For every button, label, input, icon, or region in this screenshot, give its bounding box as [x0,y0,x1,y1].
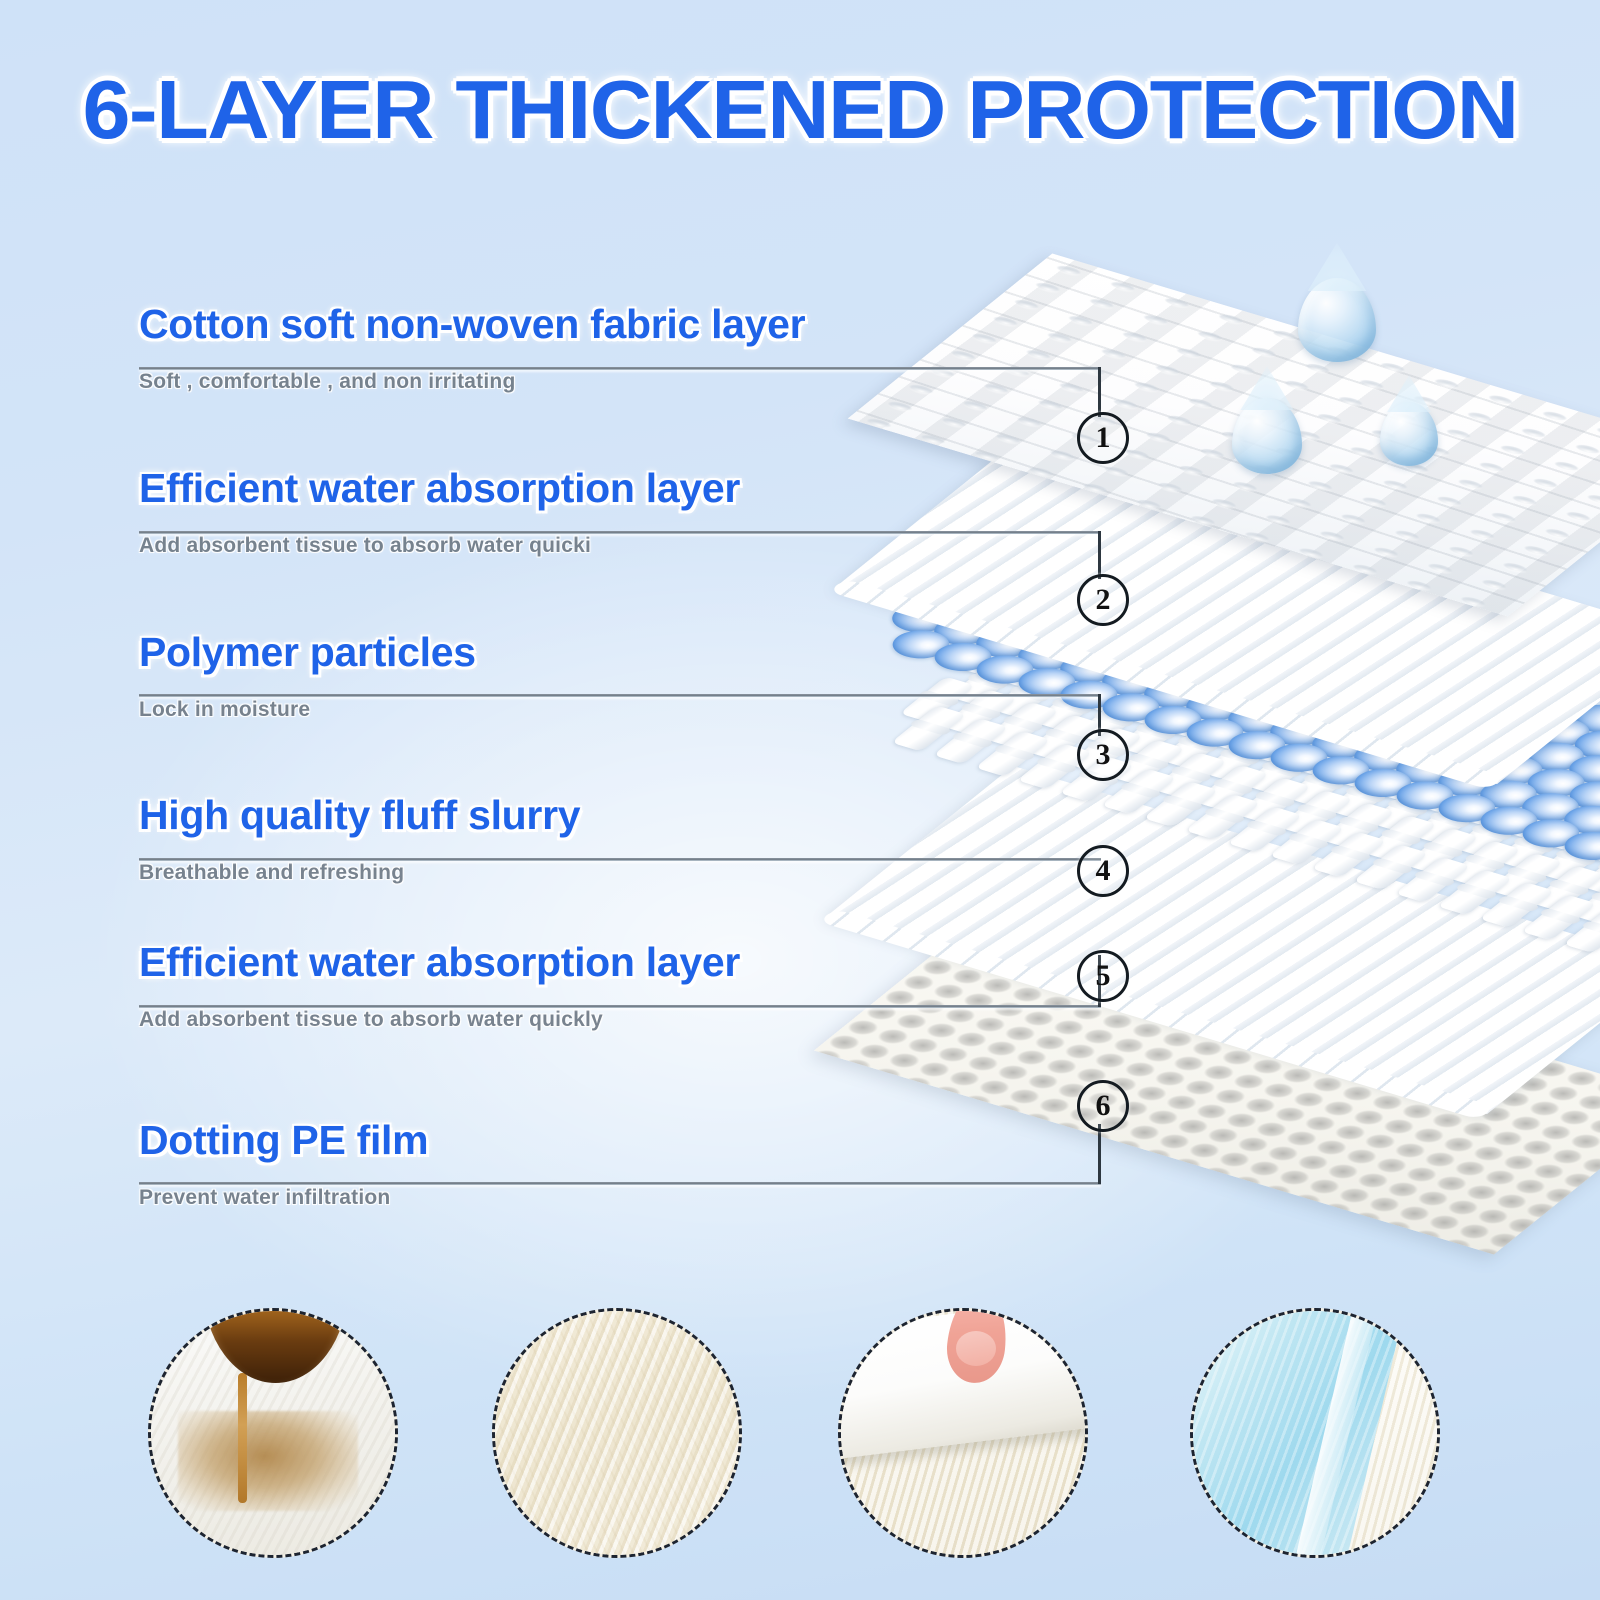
layer-marker-6: 6 [1077,1080,1129,1132]
layer-marker-2: 2 [1077,574,1129,626]
layer-1-connector [1098,367,1101,417]
layer-3-title: Polymer particles [139,631,476,674]
layer-5-title: Efficient water absorption layer [139,941,740,984]
layer-entry-3: Polymer particles Lock in moisture [139,631,476,722]
layer-6-connector [1098,1124,1101,1184]
water-drop-icon [1232,398,1302,474]
water-drop-icon [1380,402,1438,466]
layer-entry-6: Dotting PE film Prevent water infiltrati… [139,1119,428,1210]
layer-1-title: Cotton soft non-woven fabric layer [139,303,805,346]
layer-3-rule [139,694,1101,697]
finger-touch-tissue-photo [838,1308,1088,1558]
layer-1-subtitle: Soft , comfortable , and non irritating [139,370,805,394]
layer-6-subtitle: Prevent water infiltration [139,1186,428,1210]
layer-4-subtitle: Breathable and refreshing [139,861,580,885]
layer-entry-1: Cotton soft non-woven fabric layer Soft … [139,303,805,394]
layer-4-title: High quality fluff slurry [139,794,580,837]
layer-2-rule [139,531,1101,534]
liquid-absorption-test-photo [148,1308,398,1558]
product-layer-stack-illustration [880,230,1600,1310]
water-drop-icon [1298,278,1376,362]
layer-marker-3: 3 [1077,729,1129,781]
layer-5-subtitle: Add absorbent tissue to absorb water qui… [139,1008,740,1032]
layer-4-rule [139,858,1101,861]
layer-2-connector [1098,531,1101,579]
layer-5-rule [139,1005,1101,1008]
pe-film-backing-photo [1190,1308,1440,1558]
fluff-pulp-texture-photo [492,1308,742,1558]
layer-marker-5: 5 [1077,950,1129,1002]
layer-3-subtitle: Lock in moisture [139,698,476,722]
page-title: 6-LAYER THICKENED PROTECTION [0,62,1600,158]
infographic-page: 6-LAYER THICKENED PROTECTION Cotton soft… [0,0,1600,1600]
layer-marker-4: 4 [1077,845,1129,897]
layer-entry-5: Efficient water absorption layer Add abs… [139,941,740,1032]
layer-1-rule [139,367,1101,370]
layer-entry-2: Efficient water absorption layer Add abs… [139,467,740,558]
layer-6-rule [139,1182,1101,1185]
layer-2-title: Efficient water absorption layer [139,467,740,510]
layer-2-subtitle: Add absorbent tissue to absorb water qui… [139,534,740,558]
layer-6-title: Dotting PE film [139,1119,428,1162]
layer-marker-1: 1 [1077,412,1129,464]
feature-photo-row [0,1288,1600,1588]
layer-entry-4: High quality fluff slurry Breathable and… [139,794,580,885]
